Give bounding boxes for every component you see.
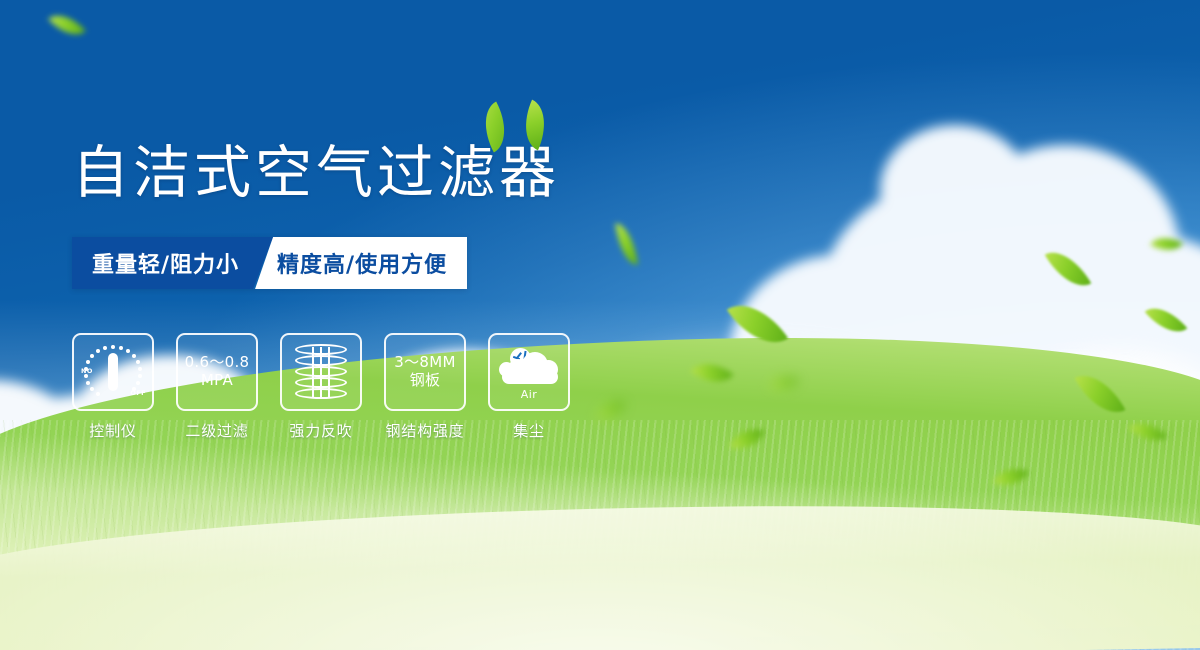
feature-icon-box: Air [488, 333, 570, 411]
feature-icon-box: 0.6～0.8 MPA [176, 333, 258, 411]
sprout-leaf-left [473, 101, 517, 152]
product-banner: 自洁式空气过滤器 重量轻/阻力小 精度高/使用方便 [0, 0, 1200, 650]
feature-label: 钢结构强度 [385, 420, 464, 441]
feature-label: 强力反吹 [289, 420, 352, 441]
pressure-unit: MPA [185, 372, 250, 390]
grass-glow [0, 410, 1200, 650]
subtitle-bar: 重量轻/阻力小 精度高/使用方便 [72, 237, 467, 289]
feature-label: 二级过滤 [185, 420, 248, 441]
sprout-leaf-right [514, 100, 556, 151]
dial-label-no: NO [81, 367, 93, 375]
feature-icon-box: NO OFF [72, 333, 154, 411]
feature-item-dust-collection[interactable]: Air 集尘 [488, 333, 570, 441]
filter-cartridge-icon [295, 343, 347, 401]
pressure-text-icon: 0.6～0.8 MPA [185, 354, 250, 389]
subtitle-right-segment: 精度高/使用方便 [255, 237, 467, 289]
subtitle-left-text: 重量轻/阻力小 [92, 247, 239, 279]
feature-item-steel-strength[interactable]: 3～8MM 钢板 钢结构强度 [384, 333, 466, 441]
dial-needle [108, 353, 118, 391]
subtitle-right-text: 精度高/使用方便 [277, 247, 447, 279]
cloud-air-icon: Air [497, 346, 561, 398]
dial-label-off: OFF [130, 389, 146, 397]
page-title: 自洁式空气过滤器 [72, 145, 560, 202]
feature-item-two-stage-filtration[interactable]: 0.6～0.8 MPA 二级过滤 [176, 333, 258, 441]
steel-thickness: 3～8MM [394, 354, 455, 372]
feature-icon-box: 3～8MM 钢板 [384, 333, 466, 411]
steel-material: 钢板 [394, 372, 455, 390]
sprout-leaves-icon [474, 103, 564, 151]
steel-plate-text-icon: 3～8MM 钢板 [394, 354, 455, 389]
feature-item-pulse-blowback[interactable]: 强力反吹 [280, 333, 362, 441]
feature-label: 控制仪 [89, 420, 136, 441]
feature-icon-box [280, 333, 362, 411]
feature-item-controller[interactable]: NO OFF 控制仪 [72, 333, 154, 441]
feature-label: 集尘 [513, 420, 545, 441]
air-label: Air [497, 388, 561, 401]
dial-gauge-icon: NO OFF [82, 343, 144, 401]
pressure-value: 0.6～0.8 [185, 354, 250, 372]
subtitle-left-segment: 重量轻/阻力小 [72, 237, 273, 289]
feature-list: NO OFF 控制仪 0.6～0.8 MPA 二级过滤 [72, 333, 570, 441]
